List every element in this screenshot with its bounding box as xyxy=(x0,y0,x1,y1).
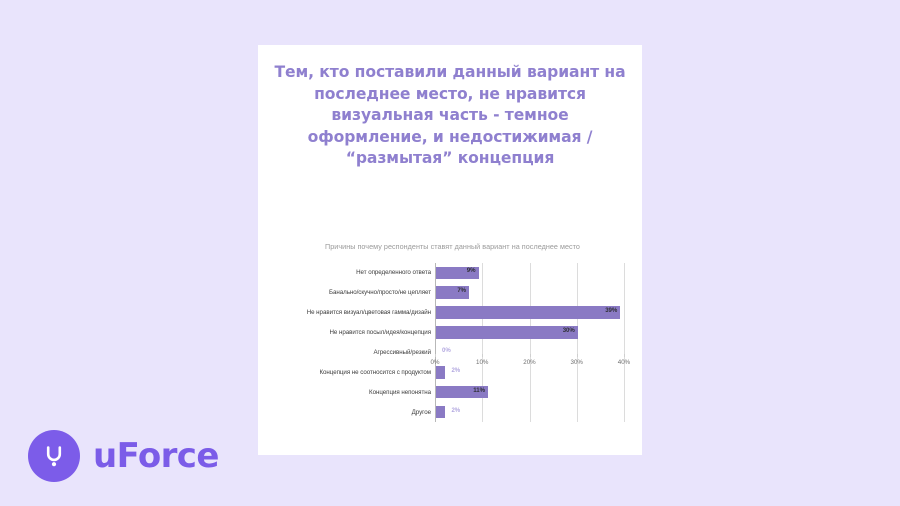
chart-bar-row[interactable]: 7% xyxy=(435,283,628,303)
chart-x-tick-label: 10% xyxy=(476,359,488,366)
chart-category-label: Концепция не соотносится с продуктом xyxy=(319,362,431,382)
chart-plot-area: 9%7%39%30%0%2%11%2% xyxy=(435,263,628,422)
chart-bar-value-label: 7% xyxy=(452,287,466,294)
chart-category-label: Агрессивный/резкий xyxy=(373,343,431,363)
chart-category-label: Не нравится посыл/идея/концепция xyxy=(330,323,432,343)
chart-bar-value-label: 2% xyxy=(451,407,460,414)
chart-x-tick-label: 0% xyxy=(431,359,440,366)
chart-category-axis: Нет определенного ответаБанально/скучно/… xyxy=(258,263,435,422)
bar-chart: Причины почему респонденты ставят данный… xyxy=(258,195,642,455)
chart-x-tick-mark xyxy=(530,354,531,357)
chart-bar-row[interactable]: 30% xyxy=(435,323,628,343)
chart-bar-value-label: 39% xyxy=(603,307,617,314)
chart-category-label: Нет определенного ответа xyxy=(356,263,431,283)
chart-x-tick-label: 40% xyxy=(618,359,630,366)
chart-bar[interactable] xyxy=(436,306,620,319)
brand-logo: uForce xyxy=(28,430,219,482)
chart-bar-row[interactable]: 9% xyxy=(435,263,628,283)
chart-plot-wrapper: Нет определенного ответаБанально/скучно/… xyxy=(258,263,642,435)
chart-bar-value-label: 9% xyxy=(462,267,476,274)
chart-x-axis: 0%10%20%30%40% xyxy=(435,354,628,370)
chart-bar-row[interactable]: 2% xyxy=(435,402,628,422)
brand-name: uForce xyxy=(93,439,219,473)
chart-bar[interactable] xyxy=(436,406,445,419)
chart-bar-value-label: 0% xyxy=(442,347,451,354)
chart-x-tick-mark xyxy=(577,354,578,357)
chart-x-tick-mark xyxy=(435,354,436,357)
slide-card: Тем, кто поставили данный вариант на пос… xyxy=(258,45,642,455)
chart-x-tick-mark xyxy=(624,354,625,357)
uforce-tulip-icon xyxy=(28,430,80,482)
chart-bar-row[interactable]: 39% xyxy=(435,303,628,323)
chart-bar[interactable] xyxy=(436,326,578,339)
chart-bar-row[interactable]: 11% xyxy=(435,382,628,402)
chart-x-tick-mark xyxy=(482,354,483,357)
chart-category-label: Концепция непонятна xyxy=(369,382,431,402)
chart-x-tick-label: 30% xyxy=(571,359,583,366)
chart-bar-value-label: 11% xyxy=(471,387,485,394)
chart-category-label: Не нравится визуал/цветовая гамма/дизайн xyxy=(307,303,431,323)
chart-x-tick-label: 20% xyxy=(523,359,535,366)
page-title: Тем, кто поставили данный вариант на пос… xyxy=(258,45,642,170)
chart-category-label: Другое xyxy=(412,402,431,422)
chart-title: Причины почему респонденты ставят данный… xyxy=(280,242,625,251)
chart-category-label: Банально/скучно/просто/не цепляет xyxy=(329,283,431,303)
chart-bar-value-label: 30% xyxy=(561,327,575,334)
